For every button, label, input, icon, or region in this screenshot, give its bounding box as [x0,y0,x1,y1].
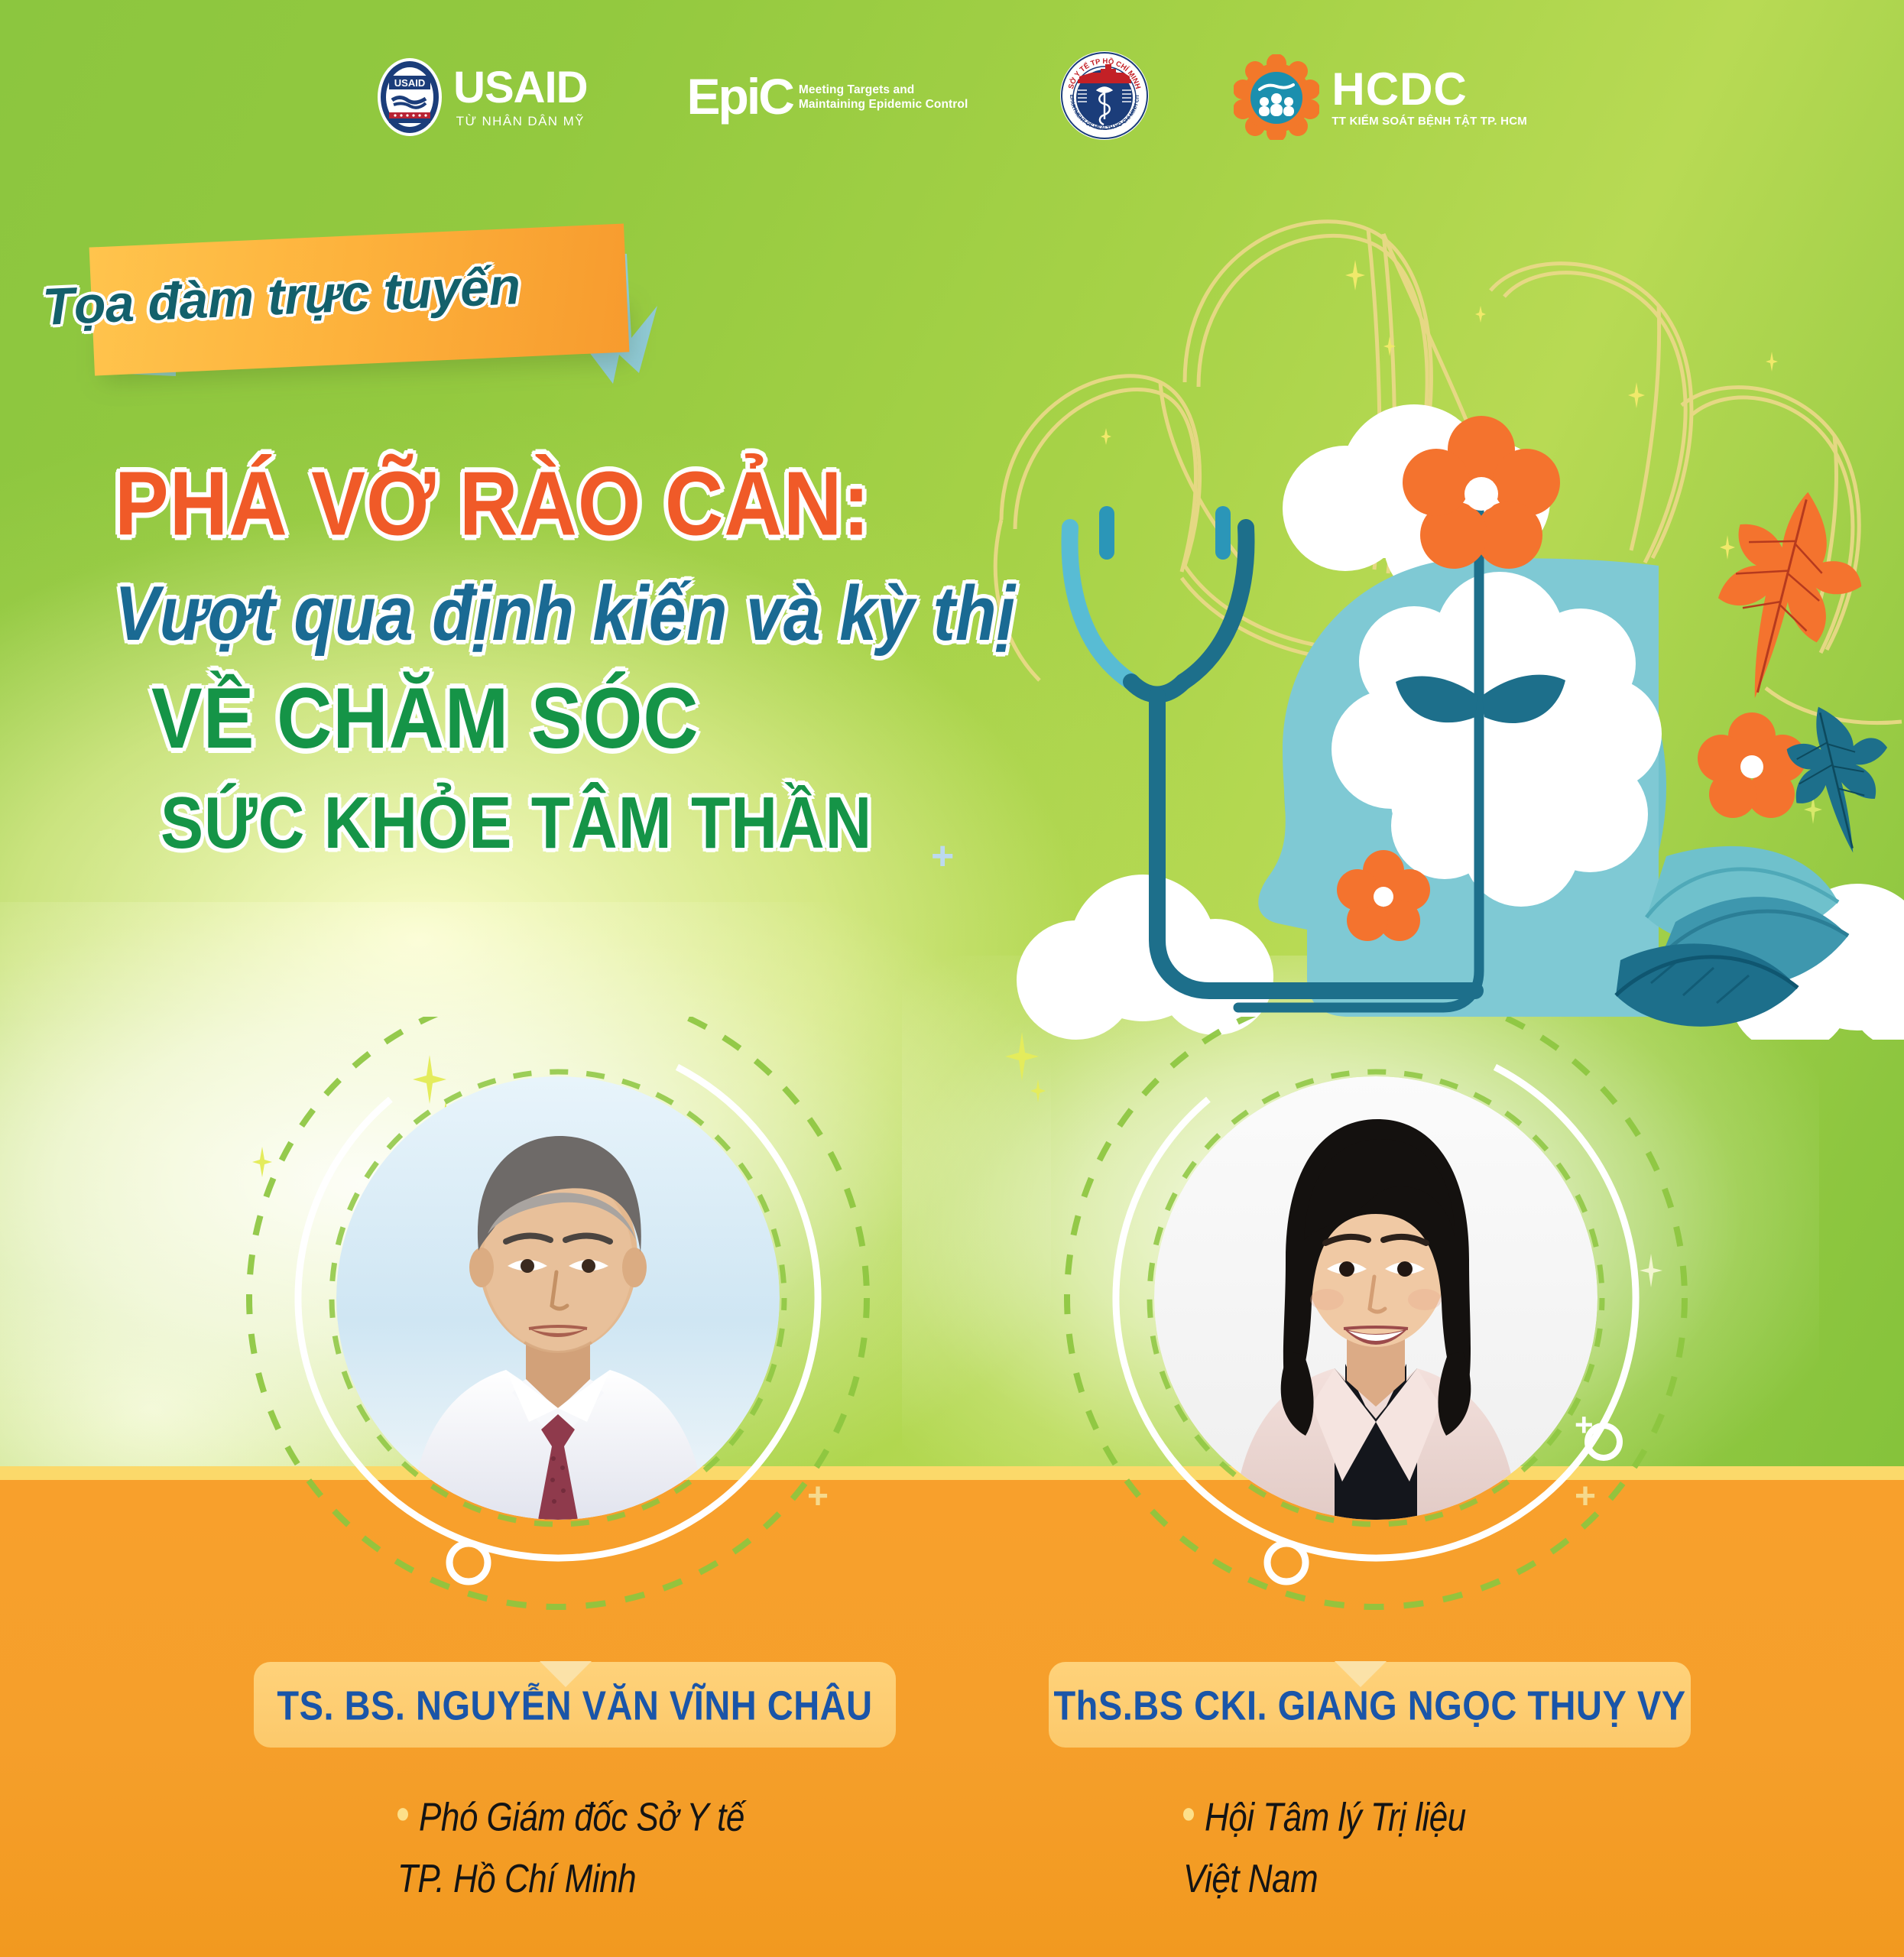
speaker-1-role-line2: TP. Hồ Chí Minh [397,1848,978,1910]
speaker-2-role: Hội Tâm lý Trị liệu Việt Nam [1183,1787,1764,1910]
speaker-1-photo [336,1076,780,1520]
epic-tagline: Meeting Targets and Maintaining Epidemic… [799,83,968,112]
bullet-icon [1183,1809,1194,1822]
usaid-tagline: TỪ NHÂN DÂN MỸ [456,114,585,129]
sparkle-icon [1475,306,1486,323]
ribbon-label: Tọa đàm trực tuyến [11,224,551,370]
epic-tagline-line2: Maintaining Epidemic Control [799,97,968,112]
epic-word: EpiC [687,74,793,119]
speaker-2-role-line2: Việt Nam [1183,1848,1764,1910]
headline-line-1: PHÁ VỠ RÀO CẢN: [115,459,1047,550]
speaker-2-role-line1: Hội Tâm lý Trị liệu [1205,1796,1466,1840]
svg-text:USAID: USAID [394,77,425,89]
speaker-1-nameplate: TS. BS. NGUYỄN VĂN VĨNH CHÂU [254,1662,896,1748]
speaker-1-role-line1: Phó Giám đốc Sở Y tế [419,1796,744,1840]
poster-root: USAID USAID TỪ NHÂN DÂN MỸ [0,0,1904,1957]
mental-health-illustration [986,336,1904,1040]
plus-decoration-icon: + [931,833,954,879]
flower-right-icon [1698,712,1806,818]
logo-usaid: USAID USAID TỪ NHÂN DÂN MỸ [377,57,587,137]
usaid-seal-icon: USAID [377,57,443,137]
logo-department-of-health: SỞ Y TẾ TP HỒ CHÍ MINH DEPARTMENT OF HEA… [1059,50,1150,144]
hcdc-wordmark: HCDC TT KIỂM SOÁT BỆNH TẬT TP. HCM [1332,67,1527,128]
headline-line-3: VỀ CHĂM SÓC [151,676,1047,761]
hcdc-tagline: TT KIỂM SOÁT BỆNH TẬT TP. HCM [1332,115,1527,128]
logo-hcdc: HCDC TT KIỂM SOÁT BỆNH TẬT TP. HCM [1234,54,1527,140]
speaker-1-name: TS. BS. NGUYỄN VĂN VĨNH CHÂU [277,1681,872,1729]
speaker-2-nameplate: ThS.BS CKI. GIANG NGỌC THUỴ VY [1049,1662,1691,1748]
headline-line-4: SỨC KHỎE TÂM THẦN [161,786,1047,859]
bullet-icon [397,1809,408,1822]
sparkle-icon [1345,260,1365,290]
speaker-2-name: ThS.BS CKI. GIANG NGỌC THUỴ VY [1053,1681,1685,1729]
speaker-2-photo [1154,1076,1597,1520]
headline-line-2: Vượt qua định kiến và kỳ thị [115,575,1047,652]
usaid-word: USAID [453,66,587,110]
epic-tagline-line1: Meeting Targets and [799,83,968,97]
hcdc-emblem-icon [1234,54,1319,140]
logo-epic: EpiC Meeting Targets and Maintaining Epi… [687,74,968,119]
headline-block: PHÁ VỠ RÀO CẢN: Vượt qua định kiến và kỳ… [115,459,1047,850]
logo-bar: USAID USAID TỪ NHÂN DÂN MỸ [0,47,1904,147]
orange-leaf-icon [1699,479,1878,715]
doh-seal-icon: SỞ Y TẾ TP HỒ CHÍ MINH DEPARTMENT OF HEA… [1059,50,1150,141]
hcdc-word: HCDC [1332,67,1527,112]
usaid-wordmark: USAID TỪ NHÂN DÂN MỸ [453,66,587,129]
speaker-1-role: Phó Giám đốc Sở Y tế TP. Hồ Chí Minh [397,1787,978,1910]
